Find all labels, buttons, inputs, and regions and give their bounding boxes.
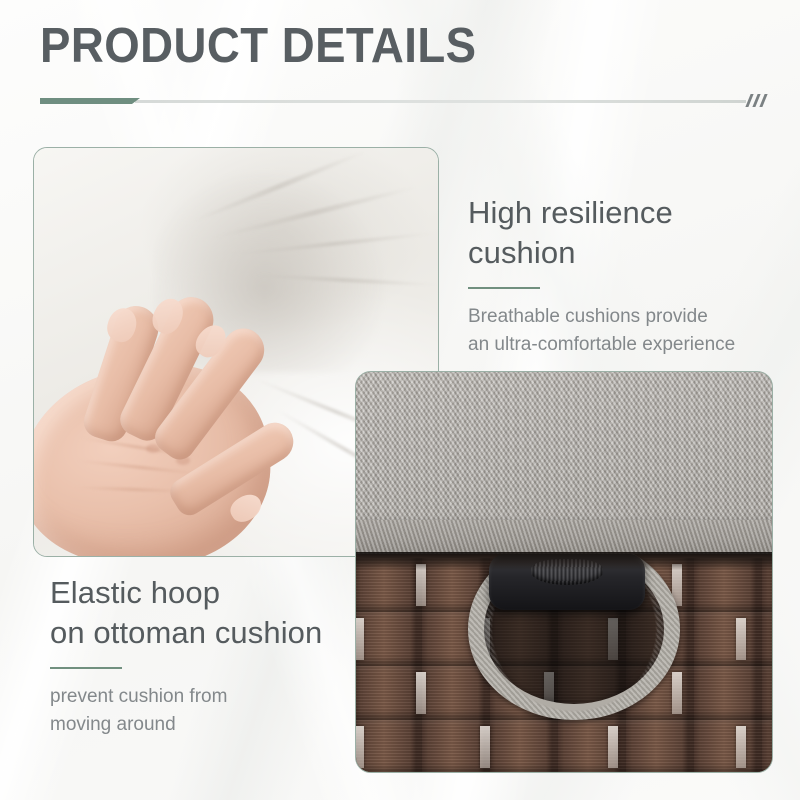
- product-details-infographic: PRODUCT DETAILS: [0, 0, 800, 800]
- cushion-edge-band: [355, 520, 773, 554]
- feature-title: Elastic hoop on ottoman cushion: [50, 573, 370, 654]
- page-title: PRODUCT DETAILS: [40, 18, 477, 74]
- feature-description: prevent cushion from moving around: [50, 683, 370, 739]
- divider-accent-segment: [40, 98, 140, 104]
- cushion-drop-shadow: [355, 552, 773, 570]
- divider-slashes-icon: [748, 94, 778, 108]
- feature-elastic-hoop: Elastic hoop on ottoman cushion prevent …: [50, 573, 370, 739]
- gray-woven-cushion: [355, 371, 773, 534]
- feature-accent-rule: [468, 287, 540, 289]
- feature-title: High resilience cushion: [468, 193, 788, 274]
- header-divider: [40, 98, 746, 104]
- hand-illustration: [33, 296, 348, 557]
- divider-track: [135, 100, 746, 103]
- feature-description: Breathable cushions provide an ultra-com…: [468, 303, 788, 359]
- photo-elastic-hoop-toggle-on-rattan-ottoman: [355, 371, 773, 773]
- feature-high-resilience-cushion: High resilience cushion Breathable cushi…: [468, 193, 788, 359]
- feature-accent-rule: [50, 667, 122, 669]
